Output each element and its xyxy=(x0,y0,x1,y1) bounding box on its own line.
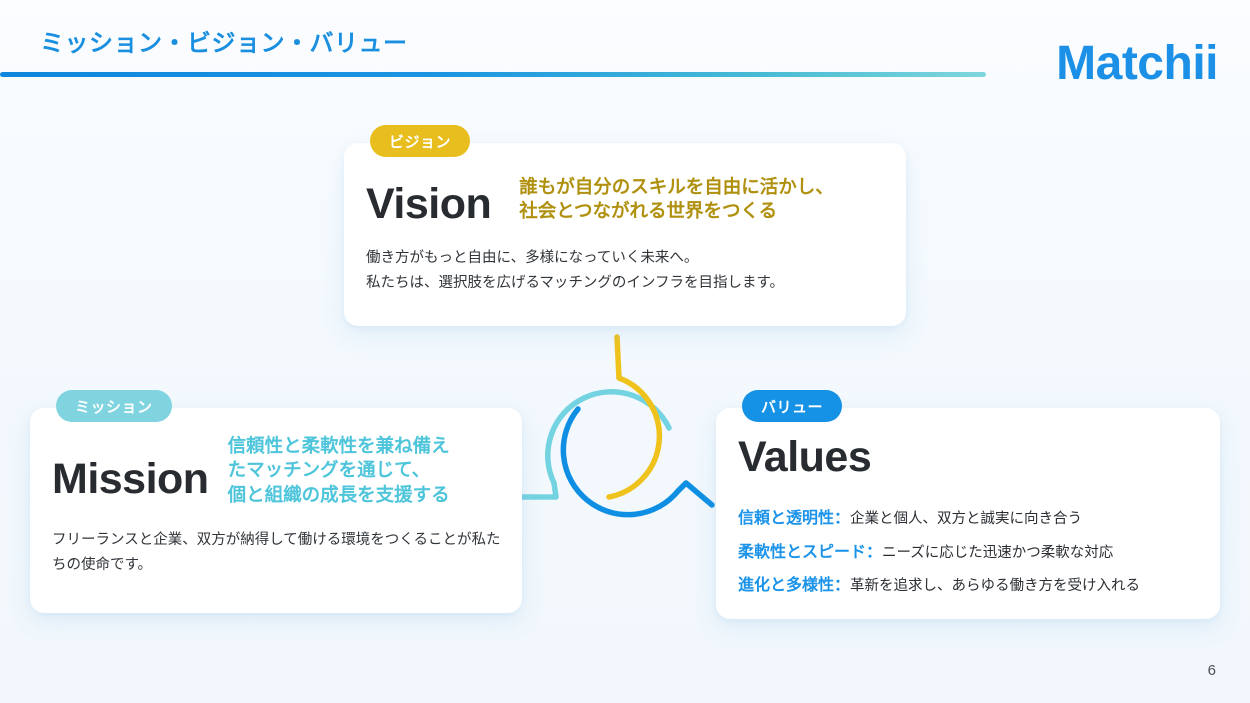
values-list: 信頼と透明性：企業と個人、双方と誠実に向き合う 柔軟性とスピード：ニーズに応じた… xyxy=(738,502,1140,603)
vision-body: 働き方がもっと自由に、多様になっていく未来へ。 私たちは、選択肢を広げるマッチン… xyxy=(366,246,784,297)
values-item-separator: ： xyxy=(834,577,850,594)
values-item-text: 革新を追求し、あらゆる働き方を受け入れる xyxy=(850,578,1140,594)
brand-logo: Matchii xyxy=(1056,40,1218,88)
connector-values xyxy=(678,483,712,505)
values-item-key: 柔軟性とスピード xyxy=(738,544,866,561)
vision-lead-line-2: 社会とつながれる世界をつくる xyxy=(519,199,834,223)
mission-lead-line-2: たマッチングを通じて、 xyxy=(228,458,450,482)
mission-body: フリーランスと企業、双方が納得して働ける環境をつくることが私たちの使命です。 xyxy=(52,528,504,579)
vision-lead-line-1: 誰もが自分のスキルを自由に活かし、 xyxy=(519,175,834,199)
slide-canvas: ミッション・ビジョン・バリュー Matchii ビジョン Vision 誰もが自… xyxy=(0,0,1250,703)
values-list-item: 信頼と透明性：企業と個人、双方と誠実に向き合う xyxy=(738,502,1140,536)
vision-lead: 誰もが自分のスキルを自由に活かし、 社会とつながれる世界をつくる xyxy=(519,175,834,224)
connector-mission xyxy=(522,483,556,497)
mission-lead-line-3: 個と組織の成長を支援する xyxy=(228,483,450,507)
mission-header-row: Mission 信頼性と柔軟性を兼ね備え たマッチングを通じて、 個と組織の成長… xyxy=(52,434,450,507)
vision-title: Vision xyxy=(366,183,491,226)
values-item-text: 企業と個人、双方と誠実に向き合う xyxy=(850,511,1082,527)
values-item-separator: ： xyxy=(834,510,850,527)
page-title: ミッション・ビジョン・バリュー xyxy=(40,23,408,58)
values-card: バリュー Values 信頼と透明性：企業と個人、双方と誠実に向き合う 柔軟性と… xyxy=(716,408,1220,619)
values-list-item: 柔軟性とスピード：ニーズに応じた迅速かつ柔軟な対応 xyxy=(738,536,1140,570)
vision-body-line-2: 私たちは、選択肢を広げるマッチングのインフラを目指します。 xyxy=(366,271,784,296)
page-number: 6 xyxy=(1208,662,1216,679)
values-item-separator: ： xyxy=(866,544,882,561)
connector-vision xyxy=(617,337,619,378)
mission-card: ミッション Mission 信頼性と柔軟性を兼ね備え たマッチングを通じて、 個… xyxy=(30,408,522,613)
vision-body-line-1: 働き方がもっと自由に、多様になっていく未来へ。 xyxy=(366,246,784,271)
mission-lead: 信頼性と柔軟性を兼ね備え たマッチングを通じて、 個と組織の成長を支援する xyxy=(228,434,450,507)
vision-badge: ビジョン xyxy=(370,125,470,157)
title-divider xyxy=(0,72,986,77)
values-badge: バリュー xyxy=(742,390,842,422)
mission-title: Mission xyxy=(52,458,209,501)
vision-card: ビジョン Vision 誰もが自分のスキルを自由に活かし、 社会とつながれる世界… xyxy=(344,143,906,326)
values-item-text: ニーズに応じた迅速かつ柔軟な対応 xyxy=(882,545,1113,561)
mission-badge: ミッション xyxy=(56,390,172,422)
connector-diagram xyxy=(490,315,740,530)
mission-lead-line-1: 信頼性と柔軟性を兼ね備え xyxy=(228,434,450,458)
values-title: Values xyxy=(738,436,871,479)
values-item-key: 信頼と透明性 xyxy=(738,510,834,527)
values-item-key: 進化と多様性 xyxy=(738,577,834,594)
vision-header-row: Vision 誰もが自分のスキルを自由に活かし、 社会とつながれる世界をつくる xyxy=(366,175,834,226)
values-list-item: 進化と多様性：革新を追求し、あらゆる働き方を受け入れる xyxy=(738,569,1140,603)
